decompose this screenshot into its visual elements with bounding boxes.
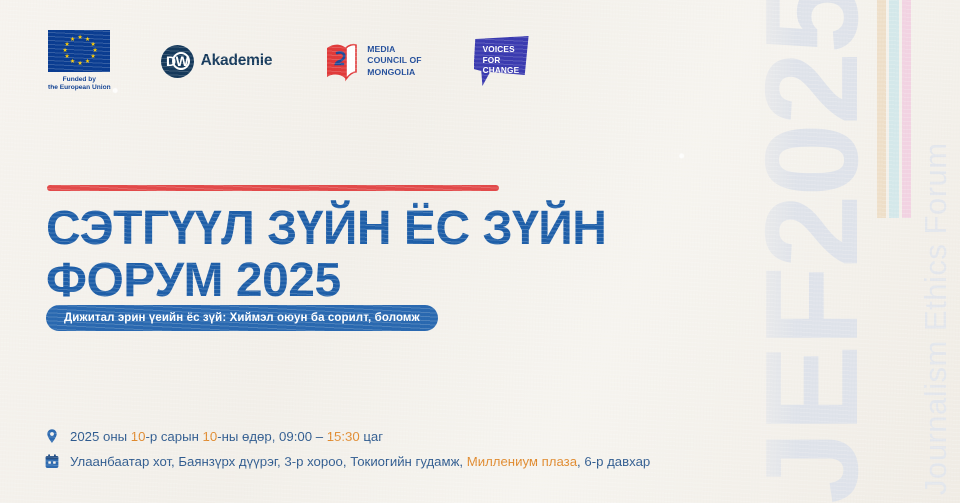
color-stripe-band <box>877 0 911 218</box>
location-pin-icon <box>44 428 60 445</box>
subtitle-badge: Дижитал эрин үеийн ёс зүй: Хиймэл оюун б… <box>46 305 438 331</box>
info-venue-text: Улаанбаатар хот, Баянзүрх дүүрэг, 3-р хо… <box>70 454 650 469</box>
stripe-beige <box>877 0 886 218</box>
mcm-book-icon <box>324 39 360 83</box>
eu-flag-icon: ★ ★ ★ ★ ★ ★ ★ ★ ★ ★ ★ ★ <box>48 30 110 72</box>
eu-funding-caption: Funded by the European Union <box>48 76 111 92</box>
poster-canvas: JEF2025 Journalism Ethics Forum ★ ★ ★ ★ … <box>0 0 960 503</box>
logo-dw-akademie: DW Akademie <box>161 45 273 78</box>
logo-media-council-of-mongolia: MEDIA COUNCIL OF MONGOLIA <box>324 39 421 83</box>
page-title: СЭТГҮҮЛ ЗҮЙН ЁС ЗҮЙН ФОРУМ 2025 <box>46 203 746 307</box>
stripe-blue <box>889 0 898 218</box>
side-label-journalism-ethics-forum: Journalism Ethics Forum <box>918 0 954 503</box>
info-date-text: 2025 оны 10-р сарын 10-ны өдөр, 09:00 – … <box>70 429 383 444</box>
dw-akademie-label: Akademie <box>201 52 273 70</box>
vfc-label: VOICES FOR CHANGE <box>474 45 520 77</box>
dw-roundel-icon: DW <box>161 45 194 78</box>
logo-voices-for-change: VOICES FOR CHANGE <box>474 36 529 86</box>
event-info-list: 2025 оны 10-р сарын 10-ны өдөр, 09:00 – … <box>44 428 650 470</box>
info-row-date: 2025 оны 10-р сарын 10-ны өдөр, 09:00 – … <box>44 428 650 445</box>
info-row-venue: Улаанбаатар хот, Баянзүрх дүүрэг, 3-р хо… <box>44 453 650 470</box>
mcm-label: MEDIA COUNCIL OF MONGOLIA <box>367 44 421 79</box>
calendar-icon <box>44 453 60 470</box>
sponsor-logo-row: ★ ★ ★ ★ ★ ★ ★ ★ ★ ★ ★ ★ Funded by the Eu… <box>48 30 529 92</box>
vfc-speech-bubble-icon: VOICES FOR CHANGE <box>474 36 529 86</box>
stripe-pink <box>902 0 911 218</box>
jef-watermark-text: JEF2025 <box>751 0 872 503</box>
title-red-rule <box>47 185 499 191</box>
logo-european-union: ★ ★ ★ ★ ★ ★ ★ ★ ★ ★ ★ ★ Funded by the Eu… <box>48 30 111 92</box>
